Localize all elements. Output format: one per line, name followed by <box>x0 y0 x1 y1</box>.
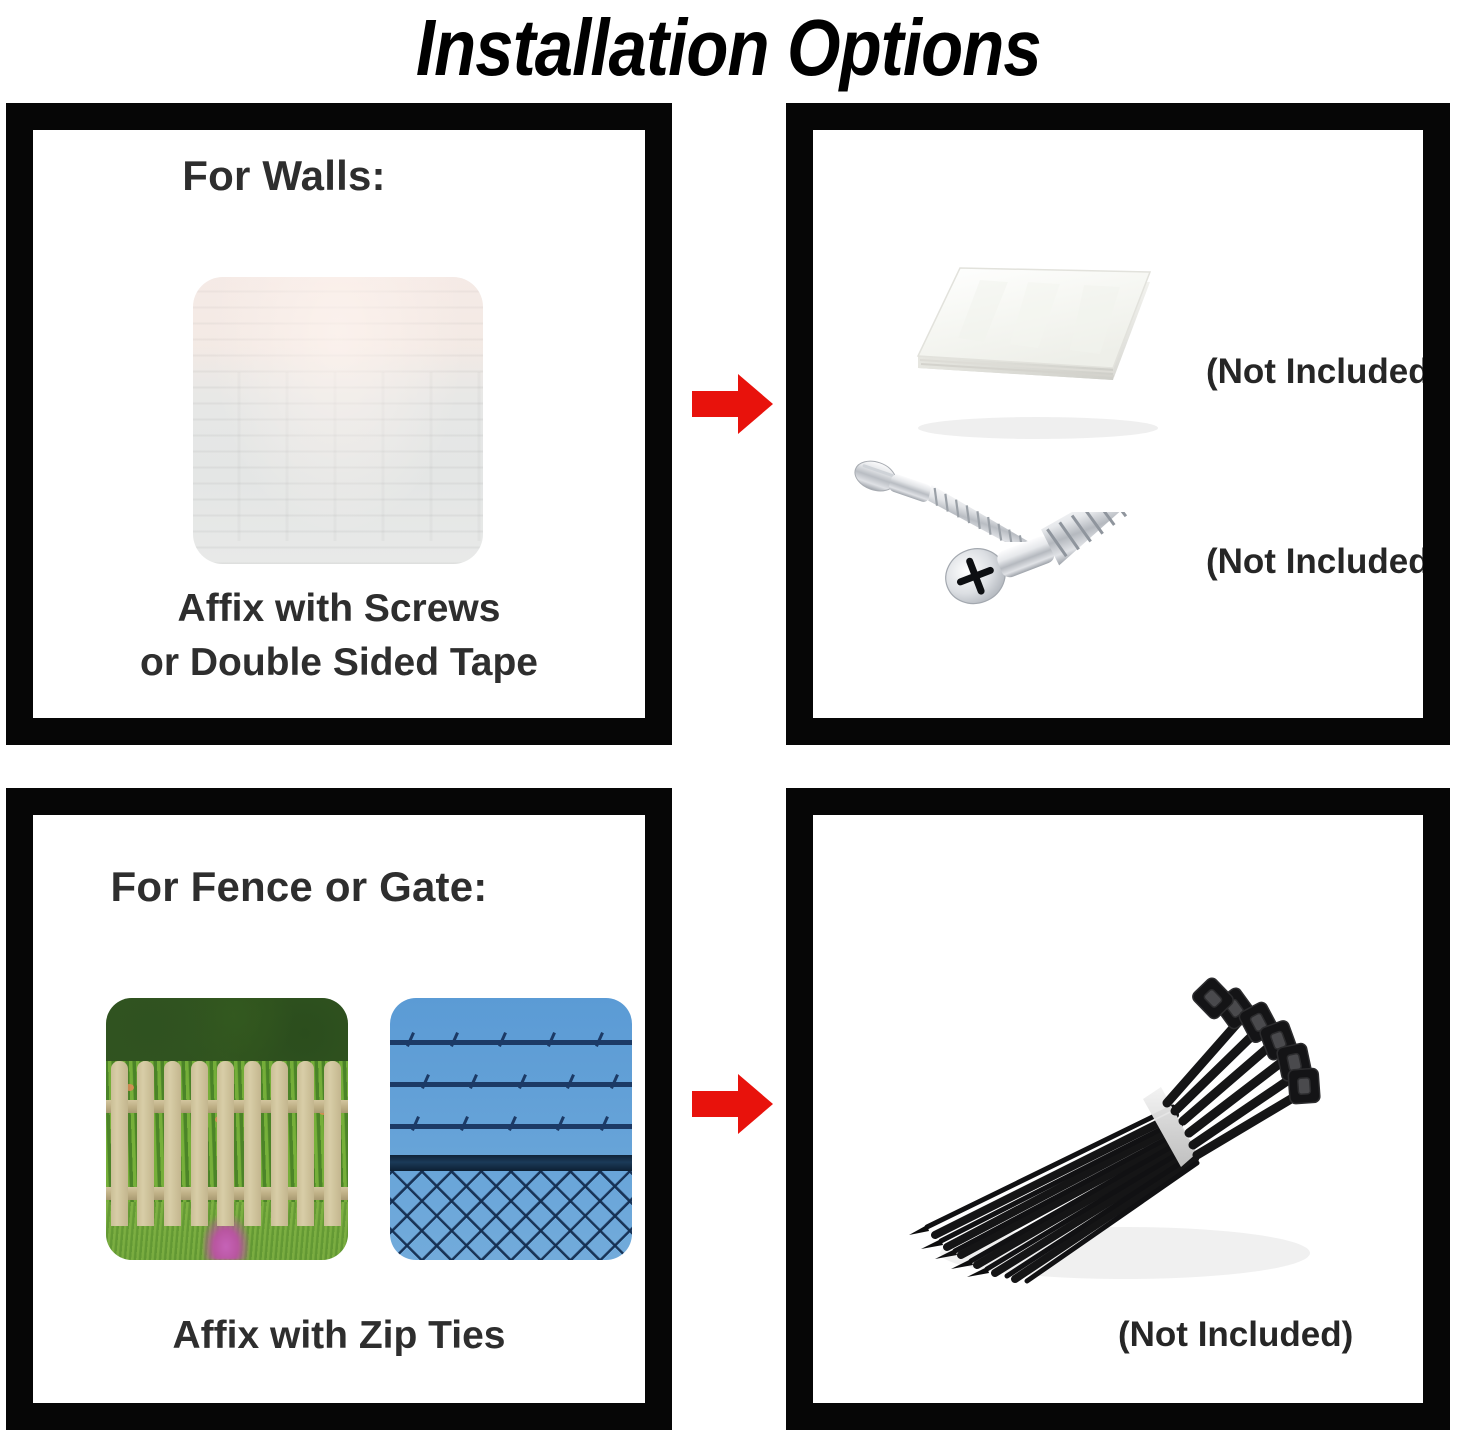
panel-wall-hardware-content: (Not Included) <box>813 130 1423 718</box>
chain-link-mesh <box>390 1171 632 1260</box>
red-right-arrow-icon <box>692 372 774 436</box>
walls-heading: For Walls: <box>33 152 590 200</box>
title-bar: Installation Options <box>0 0 1457 96</box>
panel-for-fence-or-gate: For Fence or Gate: <box>6 788 672 1430</box>
panel-fence-hardware-content: (Not Included) <box>813 815 1423 1403</box>
panel-wall-hardware: (Not Included) <box>786 103 1450 745</box>
double-sided-tape-stack-icon <box>888 260 1178 440</box>
walls-caption-line-1: Affix with Screws <box>33 582 645 636</box>
page-title: Installation Options <box>416 6 1041 90</box>
white-brick-wall-image <box>193 277 483 564</box>
hedge-background <box>106 998 348 1069</box>
fence-picket <box>111 1061 128 1226</box>
tape-not-included-label: (Not Included) <box>1206 352 1423 392</box>
fence-picket <box>164 1061 181 1226</box>
fence-picket <box>271 1061 288 1226</box>
fence-top-rail <box>390 1155 632 1171</box>
fence-picket <box>244 1061 261 1226</box>
wood-screw-phillips-icon <box>933 512 1183 616</box>
fence-picket <box>137 1061 154 1226</box>
walls-caption-line-2: or Double Sided Tape <box>33 636 645 690</box>
wooden-picket-fence-image <box>106 998 348 1260</box>
screw-not-included-label: (Not Included) <box>1206 542 1423 582</box>
red-right-arrow-icon <box>692 1072 774 1136</box>
fence-caption: Affix with Zip Ties <box>33 1309 645 1363</box>
fence-caption-line-1: Affix with Zip Ties <box>33 1309 645 1363</box>
panel-fence-hardware: (Not Included) <box>786 788 1450 1430</box>
fence-picket <box>217 1061 234 1226</box>
fence-picket <box>324 1061 341 1226</box>
black-zip-ties-bundle-icon <box>875 935 1345 1315</box>
zip-ties-not-included-label: (Not Included) <box>1118 1315 1353 1355</box>
panel-for-fence-content: For Fence or Gate: <box>33 815 645 1403</box>
chain-link-fence-image <box>390 998 632 1260</box>
panel-for-walls-content: For Walls: Affix with Screws or Double S… <box>33 130 645 718</box>
panel-for-walls: For Walls: Affix with Screws or Double S… <box>6 103 672 745</box>
walls-caption: Affix with Screws or Double Sided Tape <box>33 582 645 690</box>
brick-light-wash <box>193 277 483 564</box>
fence-picket <box>297 1061 314 1226</box>
fence-picket <box>191 1061 208 1226</box>
fence-heading: For Fence or Gate: <box>33 863 605 911</box>
